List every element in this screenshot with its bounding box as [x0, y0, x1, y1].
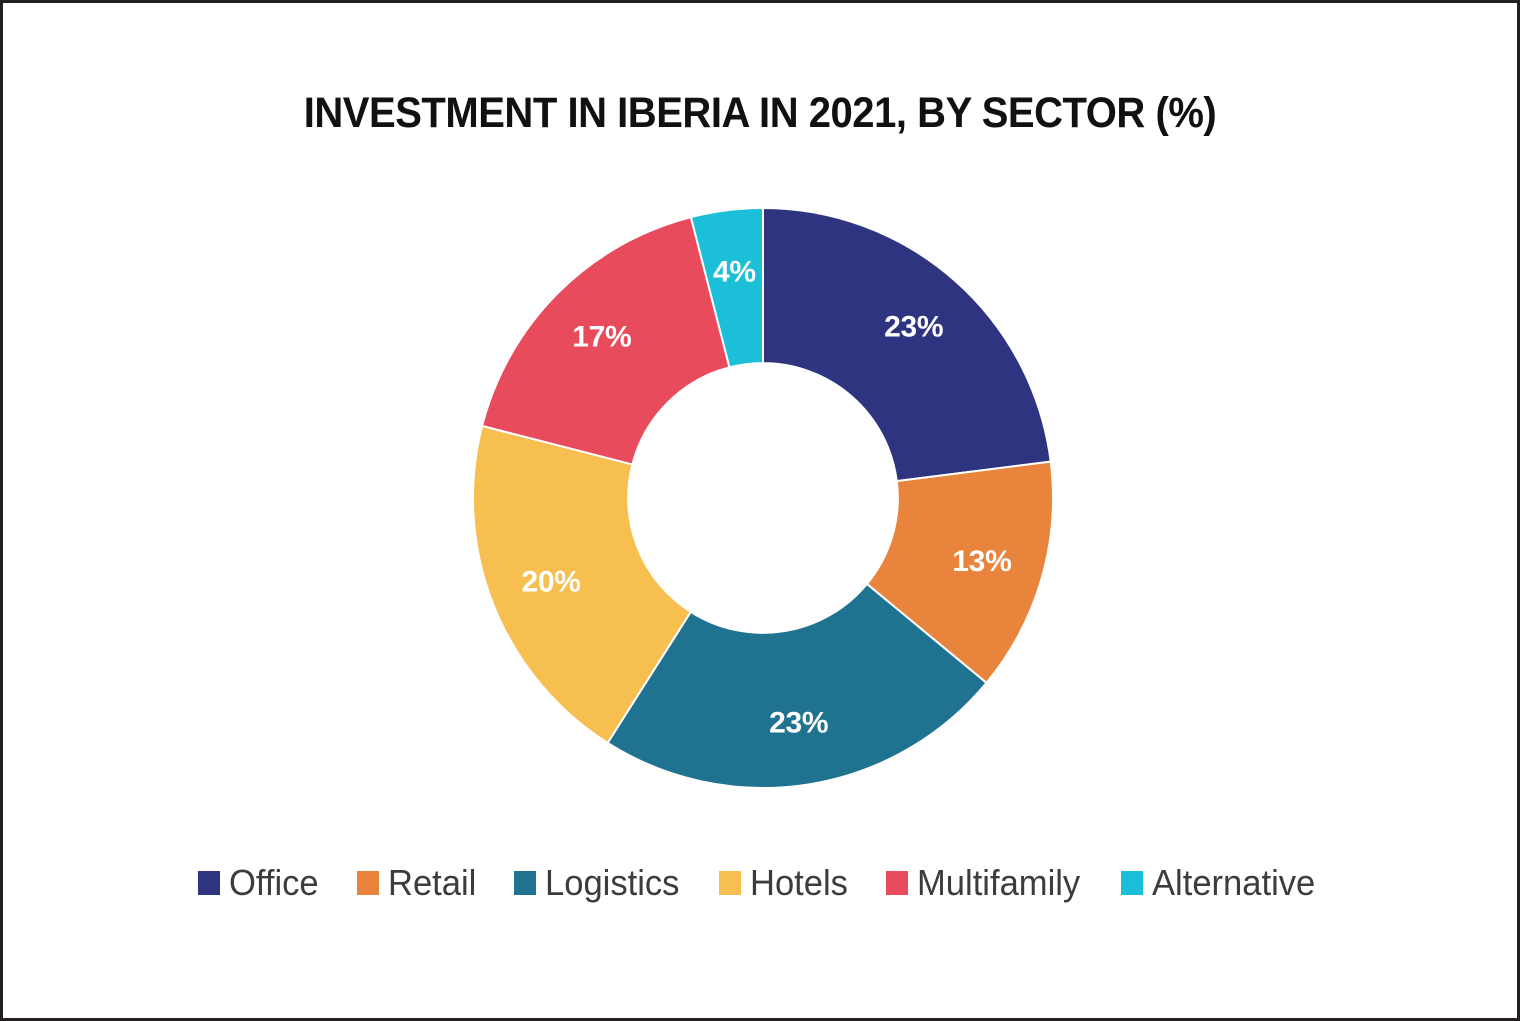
- legend-swatch-icon-alternative: [1121, 871, 1143, 895]
- legend-swatch-icon-retail: [357, 871, 379, 895]
- legend-swatch-icon-office: [198, 871, 220, 895]
- legend-item-logistics[interactable]: Logistics: [514, 865, 685, 901]
- slice-value-label-retail: 13%: [952, 545, 1011, 578]
- legend-item-retail[interactable]: Retail: [357, 865, 480, 901]
- legend-swatch-icon-hotels: [719, 871, 741, 895]
- chart-legend: OfficeRetailLogisticsHotelsMultifamilyAl…: [3, 865, 1517, 901]
- legend-label: Hotels: [750, 865, 848, 901]
- donut-slices: [473, 208, 1053, 788]
- legend-label: Alternative: [1152, 865, 1315, 901]
- slice-value-label-logistics: 23%: [769, 707, 828, 740]
- donut-slice-office[interactable]: [763, 208, 1051, 481]
- chart-canvas: INVESTMENT IN IBERIA IN 2021, BY SECTOR …: [0, 0, 1520, 1021]
- legend-swatch-icon-logistics: [514, 871, 536, 895]
- slice-value-label-multifamily: 17%: [572, 320, 631, 353]
- donut-chart-svg: 23%13%23%20%17%4%: [463, 198, 1063, 798]
- donut-chart: 23%13%23%20%17%4%: [463, 198, 1063, 798]
- slice-value-label-hotels: 20%: [521, 565, 580, 598]
- legend-item-hotels[interactable]: Hotels: [719, 865, 852, 901]
- slice-value-label-alternative: 4%: [713, 255, 756, 288]
- legend-swatch-icon-multifamily: [886, 871, 908, 895]
- legend-label: Multifamily: [917, 865, 1080, 901]
- slice-value-label-office: 23%: [884, 311, 943, 344]
- legend-label: Logistics: [545, 865, 679, 901]
- legend-item-alternative[interactable]: Alternative: [1121, 865, 1322, 901]
- page-title: INVESTMENT IN IBERIA IN 2021, BY SECTOR …: [56, 89, 1464, 138]
- legend-label: Retail: [388, 865, 476, 901]
- legend-label: Office: [229, 865, 319, 901]
- legend-item-multifamily[interactable]: Multifamily: [886, 865, 1087, 901]
- legend-item-office[interactable]: Office: [198, 865, 322, 901]
